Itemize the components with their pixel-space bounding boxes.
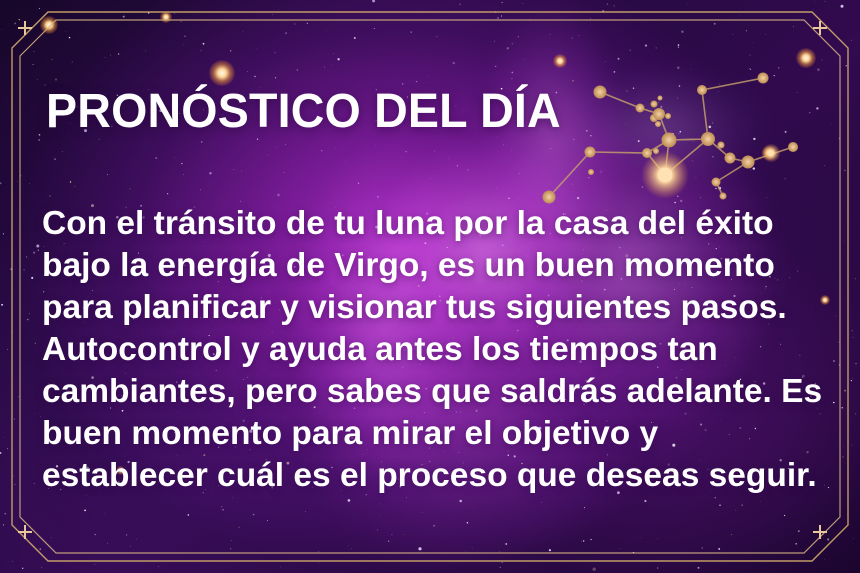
constellation-star xyxy=(758,73,769,84)
horoscope-card: PRONÓSTICO DEL DÍA Con el tránsito de tu… xyxy=(0,0,860,573)
constellation-star xyxy=(725,153,736,164)
constellation-star xyxy=(585,147,596,158)
forecast-line: bajo la energía de Virgo, es un buen mom… xyxy=(42,245,832,287)
forecast-line: para planificar y visionar tus siguiente… xyxy=(42,287,832,329)
constellation-star xyxy=(658,96,663,101)
constellation-star xyxy=(658,168,673,183)
page-title: PRONÓSTICO DEL DÍA xyxy=(46,88,561,136)
forecast-body-text: Con el tránsito de tu luna por la casa d… xyxy=(42,203,832,497)
constellation-star xyxy=(768,150,774,156)
constellation-star xyxy=(588,169,594,175)
constellation-star xyxy=(594,86,607,99)
constellation-star xyxy=(718,142,725,149)
constellation-star xyxy=(543,191,556,204)
constellation-line xyxy=(549,152,590,197)
constellation-star xyxy=(720,193,727,200)
forecast-line: Con el tránsito de tu luna por la casa d… xyxy=(42,203,832,245)
constellation-star xyxy=(742,156,755,169)
constellation-star xyxy=(712,178,721,187)
constellation-star xyxy=(636,104,645,113)
constellation-line xyxy=(702,90,708,139)
forecast-line: buen momento para mirar el objetivo y xyxy=(42,413,832,455)
constellation-line xyxy=(702,78,763,90)
forecast-line: establecer cuál es el proceso que deseas… xyxy=(42,455,832,497)
constellation-star xyxy=(655,121,661,127)
constellation-star xyxy=(788,142,798,152)
constellation-star xyxy=(697,85,707,95)
constellation-star xyxy=(653,108,665,120)
forecast-line: Autocontrol y ayuda antes los tiempos ta… xyxy=(42,329,832,371)
constellation-line xyxy=(590,152,647,153)
constellation-star xyxy=(701,132,715,146)
constellation-star xyxy=(662,133,677,148)
forecast-line: cambiantes, pero sabes que saldrás adela… xyxy=(42,371,832,413)
constellation-star xyxy=(651,101,658,108)
constellation-star xyxy=(665,113,671,119)
